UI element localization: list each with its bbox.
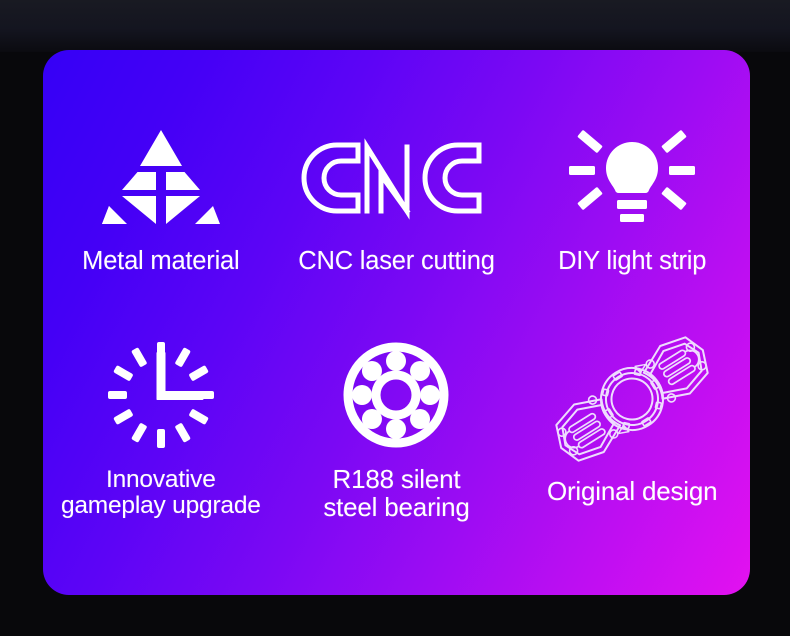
feature-label: Original design: [547, 477, 717, 505]
feature-item-cnc-laser-cutting: CNC laser cutting: [279, 50, 515, 323]
product-feature-graphic: Metal material: [0, 0, 790, 636]
feature-label: DIY light strip: [558, 248, 706, 276]
feature-label: R188 silent steel bearing: [323, 465, 469, 521]
clock-icon: [108, 341, 214, 449]
cnc-logo-icon: [301, 128, 491, 228]
feature-item-metal-material: Metal material: [43, 50, 279, 323]
feature-item-innovative-gameplay: Innovative gameplay upgrade: [43, 323, 279, 596]
ball-bearing-icon: [342, 341, 450, 449]
feature-card: Metal material: [43, 50, 750, 595]
feature-grid: Metal material: [43, 50, 750, 595]
feature-item-original-design: Original design: [514, 323, 750, 596]
sierpinski-triangle-icon: [102, 128, 220, 228]
feature-label: Metal material: [82, 248, 239, 276]
feature-item-r188-bearing: R188 silent steel bearing: [279, 323, 515, 596]
fidget-spinner-blueprint-icon: [544, 329, 720, 469]
feature-label: Innovative gameplay upgrade: [61, 467, 261, 520]
light-bulb-icon: [569, 128, 695, 228]
backdrop-haze: [0, 0, 790, 52]
feature-item-diy-light-strip: DIY light strip: [514, 50, 750, 323]
feature-label: CNC laser cutting: [298, 248, 494, 276]
